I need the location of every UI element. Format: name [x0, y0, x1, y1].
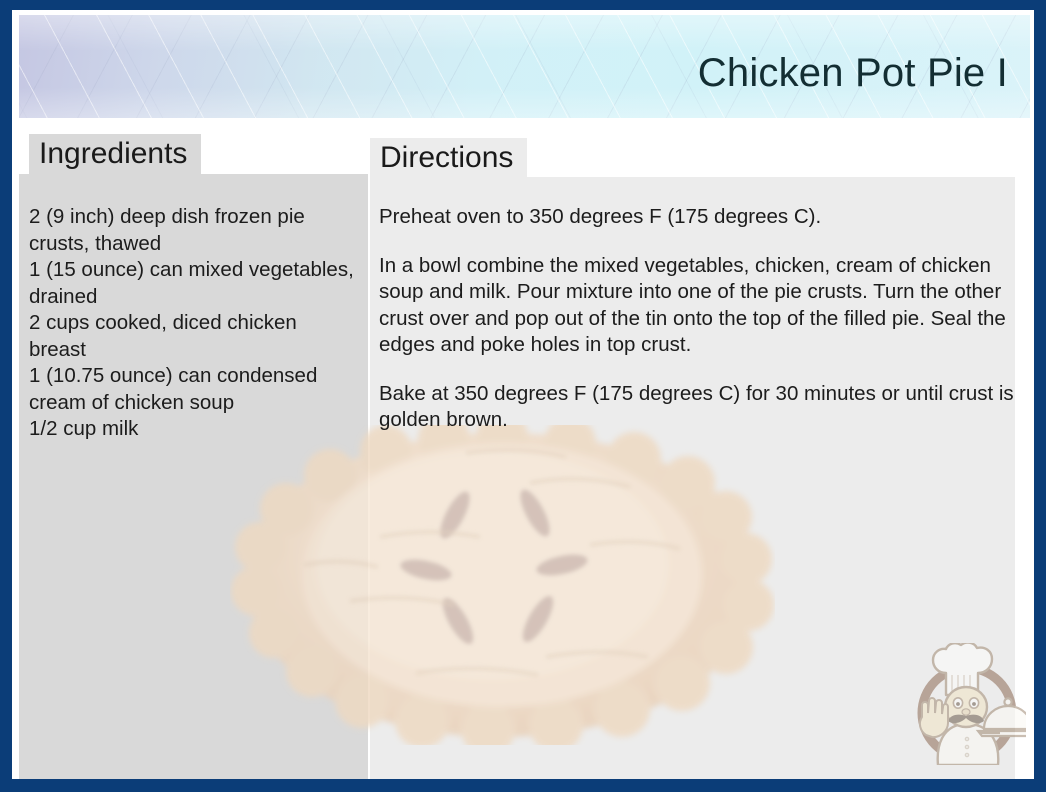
chef-logo-icon [908, 643, 1026, 765]
list-item: 1 (15 ounce) can mixed vegetables, drain… [29, 257, 359, 310]
direction-step: Preheat oven to 350 degrees F (175 degre… [379, 204, 1027, 231]
recipe-page: Chicken Pot Pie I [12, 10, 1034, 779]
direction-step: In a bowl combine the mixed vegetables, … [379, 253, 1027, 359]
page-title: Chicken Pot Pie I [698, 51, 1008, 95]
recipe-card: Chicken Pot Pie I [0, 0, 1046, 792]
tab-directions[interactable]: Directions [370, 138, 527, 179]
tab-ingredients-label: Ingredients [29, 134, 201, 175]
tab-ingredients[interactable]: Ingredients [29, 134, 201, 175]
list-item: 2 cups cooked, diced chicken breast [29, 310, 359, 363]
list-item: 1 (10.75 ounce) can condensed cream of c… [29, 363, 359, 416]
header-banner: Chicken Pot Pie I [19, 15, 1030, 118]
list-item: 2 (9 inch) deep dish frozen pie crusts, … [29, 204, 359, 257]
list-item: 1/2 cup milk [29, 416, 359, 443]
directions-body: Preheat oven to 350 degrees F (175 degre… [379, 204, 1027, 434]
ingredients-list: 2 (9 inch) deep dish frozen pie crusts, … [29, 204, 359, 443]
tab-directions-label: Directions [370, 138, 527, 179]
direction-step: Bake at 350 degrees F (175 degrees C) fo… [379, 381, 1027, 434]
